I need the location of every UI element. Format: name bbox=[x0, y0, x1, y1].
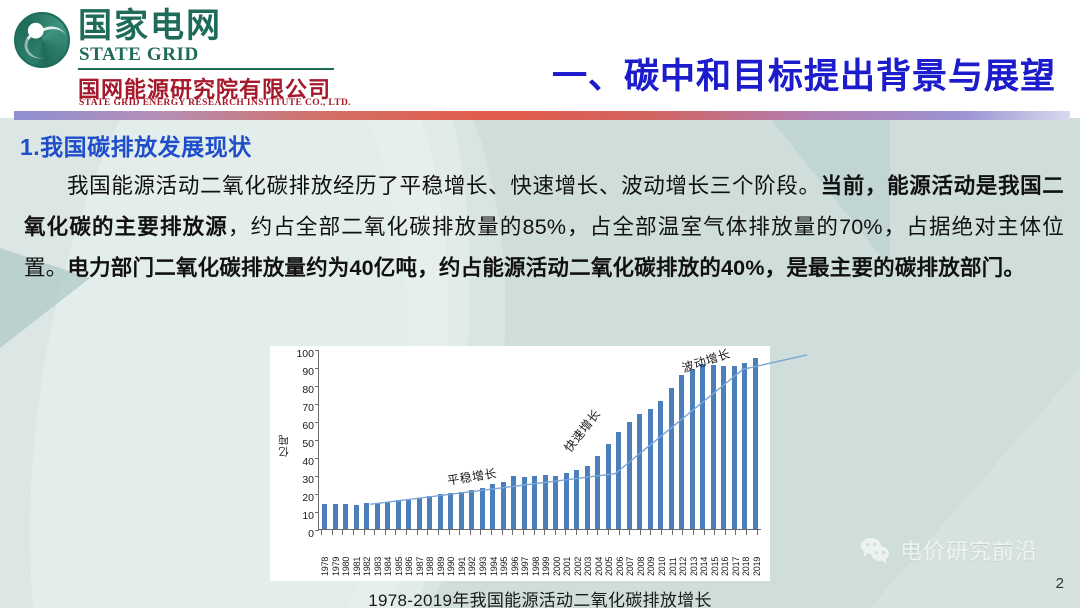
chart-bar bbox=[616, 432, 621, 529]
chart-bar bbox=[364, 503, 369, 529]
emissions-bar-chart: 亿吨 0102030405060708090100 平稳增长 快速增长 波动增长… bbox=[270, 346, 770, 581]
chart-x-tick-label: 2004 bbox=[595, 536, 600, 576]
chart-x-tick-label: 2009 bbox=[647, 536, 652, 576]
chart-x-tick-label: 2007 bbox=[626, 536, 631, 576]
chart-x-tick-mark bbox=[555, 530, 556, 535]
chart-x-tick-label: 1985 bbox=[395, 536, 400, 576]
chart-bar bbox=[406, 500, 411, 529]
chart-bar bbox=[511, 476, 516, 529]
chart-x-tick-label: 1989 bbox=[437, 536, 442, 576]
chart-x-tick-mark bbox=[704, 530, 705, 535]
chart-x-tick-mark bbox=[650, 530, 651, 535]
paragraph-run-3: 电力部门二氧化碳排放量约为40亿吨，约占能源活动二氧化碳排放的40%，是最主要的… bbox=[67, 256, 1025, 280]
chart-x-tick-label: 2014 bbox=[700, 536, 705, 576]
chart-x-tick-label: 2010 bbox=[658, 536, 663, 576]
chart-x-tick-label: 2003 bbox=[584, 536, 589, 576]
chart-x-tick-label: 1979 bbox=[332, 536, 337, 576]
chart-y-tick-label: 50 bbox=[302, 439, 314, 450]
chart-bar bbox=[595, 456, 600, 529]
chart-x-tick-label: 1982 bbox=[363, 536, 368, 576]
chart-x-tick-mark bbox=[491, 530, 492, 535]
chart-x-tick-label: 1986 bbox=[405, 536, 410, 576]
chart-bar bbox=[427, 496, 432, 529]
chart-x-tick-mark bbox=[502, 530, 503, 535]
chart-bar bbox=[574, 470, 579, 529]
chart-x-tick-mark bbox=[640, 530, 641, 535]
logo-english-name: STATE GRID bbox=[79, 44, 199, 66]
chart-x-tick-mark bbox=[682, 530, 683, 535]
chart-x-tick-mark bbox=[587, 530, 588, 535]
chart-bar bbox=[448, 493, 453, 529]
section-heading: 1.我国碳排放发展现状 bbox=[20, 128, 252, 162]
chart-bar bbox=[385, 502, 390, 529]
chart-bar bbox=[343, 504, 348, 529]
chart-x-tick-mark bbox=[459, 530, 460, 535]
chart-x-tick-label: 1981 bbox=[353, 536, 358, 576]
chart-y-tick-label: 90 bbox=[302, 367, 314, 378]
chart-x-tick-label: 2013 bbox=[690, 536, 695, 576]
chart-bar bbox=[669, 388, 674, 529]
chart-x-tick-label: 2000 bbox=[553, 536, 558, 576]
chart-y-tick-label: 60 bbox=[302, 421, 314, 432]
chart-x-tick-label: 1996 bbox=[511, 536, 516, 576]
chart-bar bbox=[658, 401, 663, 529]
chart-x-tick-label: 1995 bbox=[500, 536, 505, 576]
chart-bar bbox=[753, 358, 758, 529]
chart-x-tick-label: 1997 bbox=[521, 536, 526, 576]
institute-english-name: STATE GRID ENERGY RESEARCH INSTITUTE CO.… bbox=[79, 98, 351, 108]
chart-x-tick-mark bbox=[544, 530, 545, 535]
chart-x-tick-label: 1990 bbox=[447, 536, 452, 576]
chart-x-tick-label: 2017 bbox=[732, 536, 737, 576]
paragraph-run-0: 我国能源活动二氧化碳排放经历了平稳增长、快速增长、波动增长三个阶段。 bbox=[67, 174, 821, 198]
chart-x-tick-label: 2008 bbox=[637, 536, 642, 576]
chart-bar bbox=[606, 444, 611, 529]
chart-x-tick-mark bbox=[661, 530, 662, 535]
body-paragraph: 我国能源活动二氧化碳排放经历了平稳增长、快速增长、波动增长三个阶段。当前，能源活… bbox=[24, 166, 1064, 289]
chart-x-tick-mark bbox=[406, 530, 407, 535]
chart-y-tick-label: 20 bbox=[302, 493, 314, 504]
chart-x-tick-label: 1983 bbox=[374, 536, 379, 576]
watermark-text: 电价研究前沿 bbox=[900, 534, 1038, 566]
chart-x-tick-label: 2001 bbox=[563, 536, 568, 576]
chart-x-tick-mark bbox=[512, 530, 513, 535]
chart-bar bbox=[322, 504, 327, 529]
chart-y-tick-label: 80 bbox=[302, 385, 314, 396]
chart-bar bbox=[564, 473, 569, 529]
chart-bar bbox=[501, 482, 506, 529]
chart-x-tick-mark bbox=[449, 530, 450, 535]
chart-bar bbox=[375, 503, 380, 529]
logo-divider-rule bbox=[78, 68, 334, 70]
chart-x-tick-label: 2015 bbox=[711, 536, 716, 576]
chart-x-tick-label: 2011 bbox=[669, 536, 674, 576]
header-gradient-divider bbox=[14, 111, 1070, 120]
chart-x-tick-mark bbox=[597, 530, 598, 535]
wechat-watermark: 电价研究前沿 bbox=[861, 534, 1038, 566]
chart-bar bbox=[480, 488, 485, 529]
chart-bar bbox=[543, 475, 548, 529]
slide-header: 国家电网 STATE GRID 国网能源研究院有限公司 STATE GRID E… bbox=[0, 0, 1080, 110]
chart-bar bbox=[721, 366, 726, 529]
chart-y-tick-mark bbox=[315, 368, 319, 369]
slide: 国家电网 STATE GRID 国网能源研究院有限公司 STATE GRID E… bbox=[0, 0, 1080, 608]
chart-bar bbox=[553, 476, 558, 529]
chart-x-axis-ticks bbox=[318, 530, 761, 535]
chart-y-axis-labels: 0102030405060708090100 bbox=[288, 350, 314, 530]
chart-x-tick-mark bbox=[438, 530, 439, 535]
chart-x-tick-label: 1978 bbox=[321, 536, 326, 576]
chart-y-tick-mark bbox=[315, 458, 319, 459]
chart-x-tick-label: 1991 bbox=[458, 536, 463, 576]
chart-x-tick-label: 1993 bbox=[479, 536, 484, 576]
chart-x-tick-label: 1994 bbox=[490, 536, 495, 576]
chart-bar bbox=[585, 466, 590, 529]
chart-y-tick-label: 70 bbox=[302, 403, 314, 414]
wechat-icon bbox=[861, 538, 891, 562]
chart-x-tick-mark bbox=[672, 530, 673, 535]
chart-bar bbox=[532, 476, 537, 529]
chart-x-tick-mark bbox=[427, 530, 428, 535]
chart-y-tick-label: 100 bbox=[296, 349, 314, 360]
chart-x-tick-mark bbox=[417, 530, 418, 535]
chart-x-tick-label: 1999 bbox=[542, 536, 547, 576]
chart-x-tick-mark bbox=[374, 530, 375, 535]
chart-x-tick-mark bbox=[385, 530, 386, 535]
chart-x-tick-label: 1992 bbox=[468, 536, 473, 576]
chart-x-tick-label: 2018 bbox=[742, 536, 747, 576]
chart-x-tick-mark bbox=[757, 530, 758, 535]
state-grid-globe-logo-icon bbox=[14, 12, 70, 68]
chart-x-tick-mark bbox=[395, 530, 396, 535]
chart-bar bbox=[438, 494, 443, 529]
chart-bar bbox=[679, 375, 684, 529]
chart-y-tick-mark bbox=[315, 476, 319, 477]
chart-x-tick-label: 2005 bbox=[605, 536, 610, 576]
chart-x-tick-mark bbox=[523, 530, 524, 535]
chart-x-tick-label: 2002 bbox=[574, 536, 579, 576]
chart-plot-area: 平稳增长 快速增长 波动增长 bbox=[318, 350, 761, 530]
chart-bar bbox=[637, 414, 642, 529]
chart-x-tick-mark bbox=[619, 530, 620, 535]
chart-bar bbox=[417, 498, 422, 529]
chart-x-tick-mark bbox=[321, 530, 322, 535]
chart-x-tick-mark bbox=[565, 530, 566, 535]
chart-y-tick-mark bbox=[315, 422, 319, 423]
chart-x-tick-mark bbox=[714, 530, 715, 535]
chart-bar bbox=[522, 477, 527, 529]
chart-x-tick-mark bbox=[480, 530, 481, 535]
chart-x-tick-mark bbox=[534, 530, 535, 535]
chart-x-tick-mark bbox=[725, 530, 726, 535]
chart-x-tick-label: 2012 bbox=[679, 536, 684, 576]
chart-x-axis-labels: 1978197919801981198219831984198519861987… bbox=[318, 536, 761, 576]
chart-y-tick-mark bbox=[315, 512, 319, 513]
chart-x-tick-mark bbox=[353, 530, 354, 535]
organization-logo: 国家电网 STATE GRID 国网能源研究院有限公司 STATE GRID E… bbox=[10, 6, 430, 106]
chart-bar bbox=[627, 422, 632, 529]
chart-x-tick-label: 2016 bbox=[721, 536, 726, 576]
chart-y-tick-label: 10 bbox=[302, 511, 314, 522]
logo-chinese-name: 国家电网 bbox=[78, 8, 222, 45]
chart-bar bbox=[459, 492, 464, 529]
chart-bar bbox=[354, 505, 359, 529]
chart-x-tick-label: 1998 bbox=[532, 536, 537, 576]
chart-x-tick-mark bbox=[693, 530, 694, 535]
chart-bar bbox=[490, 484, 495, 529]
chart-y-tick-label: 0 bbox=[308, 529, 314, 540]
chart-y-tick-mark bbox=[315, 386, 319, 387]
chart-x-tick-mark bbox=[342, 530, 343, 535]
chart-x-tick-mark bbox=[746, 530, 747, 535]
chart-bar bbox=[333, 504, 338, 529]
chart-x-tick-label: 1980 bbox=[342, 536, 347, 576]
chart-x-tick-mark bbox=[608, 530, 609, 535]
chart-caption: 1978-2019年我国能源活动二氧化碳排放增长 bbox=[0, 586, 1080, 608]
chart-x-tick-mark bbox=[629, 530, 630, 535]
chart-x-tick-label: 1987 bbox=[416, 536, 421, 576]
chart-bar bbox=[648, 409, 653, 529]
chart-x-tick-label: 2019 bbox=[753, 536, 758, 576]
chart-x-tick-label: 2006 bbox=[616, 536, 621, 576]
chart-x-tick-mark bbox=[364, 530, 365, 535]
chart-bar bbox=[396, 500, 401, 529]
chart-y-tick-mark bbox=[315, 404, 319, 405]
chart-y-tick-mark bbox=[315, 440, 319, 441]
chart-x-tick-mark bbox=[470, 530, 471, 535]
chart-bar bbox=[742, 363, 747, 529]
chart-y-tick-label: 30 bbox=[302, 475, 314, 486]
chart-bar bbox=[690, 370, 695, 529]
chart-y-tick-mark bbox=[315, 494, 319, 495]
chart-bar bbox=[700, 364, 705, 529]
chart-bars bbox=[319, 350, 761, 529]
chart-bar bbox=[469, 490, 474, 529]
page-number: 2 bbox=[1056, 575, 1064, 592]
chart-x-tick-mark bbox=[735, 530, 736, 535]
chart-y-tick-label: 40 bbox=[302, 457, 314, 468]
chart-x-tick-label: 1984 bbox=[384, 536, 389, 576]
chart-y-tick-mark bbox=[315, 350, 319, 351]
page-title: 一、碳中和目标提出背景与展望 bbox=[552, 48, 1056, 99]
chart-bar bbox=[732, 366, 737, 529]
chart-x-tick-mark bbox=[332, 530, 333, 535]
chart-bar bbox=[711, 365, 716, 529]
chart-x-tick-mark bbox=[576, 530, 577, 535]
chart-x-tick-label: 1988 bbox=[426, 536, 431, 576]
